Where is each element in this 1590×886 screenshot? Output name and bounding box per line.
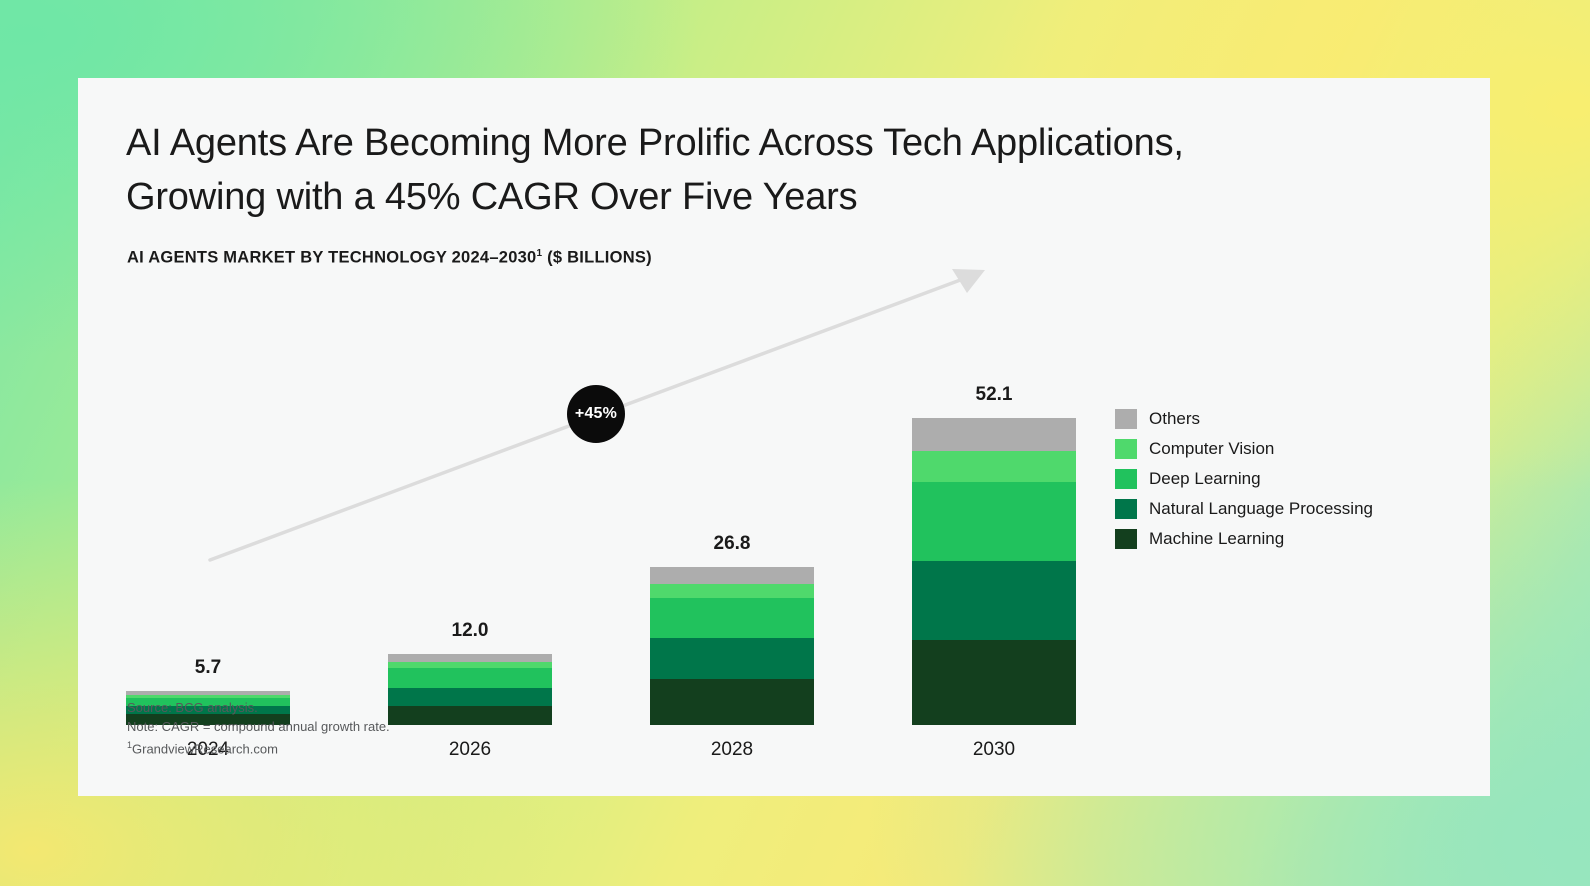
legend-label: Natural Language Processing bbox=[1149, 499, 1373, 519]
bar-segment-others[interactable] bbox=[650, 567, 814, 583]
cagr-badge: +45% bbox=[567, 385, 625, 443]
bar-segment-machine-learning[interactable] bbox=[650, 679, 814, 725]
bar-total-label: 12.0 bbox=[388, 620, 552, 642]
bar-segment-deep-learning[interactable] bbox=[388, 668, 552, 687]
legend-item-computer-vision[interactable]: Computer Vision bbox=[1115, 434, 1373, 464]
bar-total-label: 52.1 bbox=[912, 384, 1076, 406]
chart-card: AI Agents Are Becoming More Prolific Acr… bbox=[78, 78, 1490, 796]
footnote-note: Note: CAGR = compound annual growth rate… bbox=[127, 717, 390, 736]
legend-swatch-icon bbox=[1115, 469, 1137, 489]
legend-swatch-icon bbox=[1115, 409, 1137, 429]
legend-label: Machine Learning bbox=[1149, 529, 1284, 549]
legend-item-natural-language-processing[interactable]: Natural Language Processing bbox=[1115, 494, 1373, 524]
bar-segment-deep-learning[interactable] bbox=[650, 598, 814, 638]
legend-swatch-icon bbox=[1115, 499, 1137, 519]
bar-segment-computer-vision[interactable] bbox=[912, 451, 1076, 482]
legend-label: Computer Vision bbox=[1149, 439, 1274, 459]
x-axis-label-2026: 2026 bbox=[388, 739, 552, 761]
x-axis-label-2030: 2030 bbox=[912, 739, 1076, 761]
bar-total-label: 5.7 bbox=[126, 657, 290, 679]
bar-total-label: 26.8 bbox=[650, 533, 814, 555]
bar-segment-others[interactable] bbox=[912, 418, 1076, 451]
legend-swatch-icon bbox=[1115, 439, 1137, 459]
legend-item-others[interactable]: Others bbox=[1115, 404, 1373, 434]
legend-label: Deep Learning bbox=[1149, 469, 1261, 489]
legend-label: Others bbox=[1149, 409, 1200, 429]
bar-segment-others[interactable] bbox=[388, 654, 552, 662]
bar-stack bbox=[388, 654, 552, 725]
footnote-reference: 1GrandviewResearch.com bbox=[127, 736, 390, 758]
footnote-reference-text: GrandviewResearch.com bbox=[132, 741, 278, 756]
footnotes: Source: BCG analysis. Note: CAGR = compo… bbox=[127, 698, 390, 758]
bar-segment-deep-learning[interactable] bbox=[912, 482, 1076, 561]
legend-item-machine-learning[interactable]: Machine Learning bbox=[1115, 524, 1373, 554]
bar-segment-natural-language-processing[interactable] bbox=[912, 561, 1076, 640]
bar-segment-machine-learning[interactable] bbox=[388, 706, 552, 725]
x-axis-label-2028: 2028 bbox=[650, 739, 814, 761]
chart-legend: OthersComputer VisionDeep LearningNatura… bbox=[1115, 404, 1373, 554]
bar-segment-computer-vision[interactable] bbox=[650, 584, 814, 599]
bar-segment-natural-language-processing[interactable] bbox=[650, 638, 814, 679]
bar-segment-machine-learning[interactable] bbox=[912, 640, 1076, 725]
footnote-source: Source: BCG analysis. bbox=[127, 698, 390, 717]
legend-item-deep-learning[interactable]: Deep Learning bbox=[1115, 464, 1373, 494]
bar-segment-natural-language-processing[interactable] bbox=[388, 688, 552, 706]
plot-area: +45% 5.7202412.0202626.8202852.12030 Oth… bbox=[78, 78, 1490, 796]
legend-swatch-icon bbox=[1115, 529, 1137, 549]
bar-stack bbox=[650, 567, 814, 725]
bar-stack bbox=[912, 418, 1076, 725]
